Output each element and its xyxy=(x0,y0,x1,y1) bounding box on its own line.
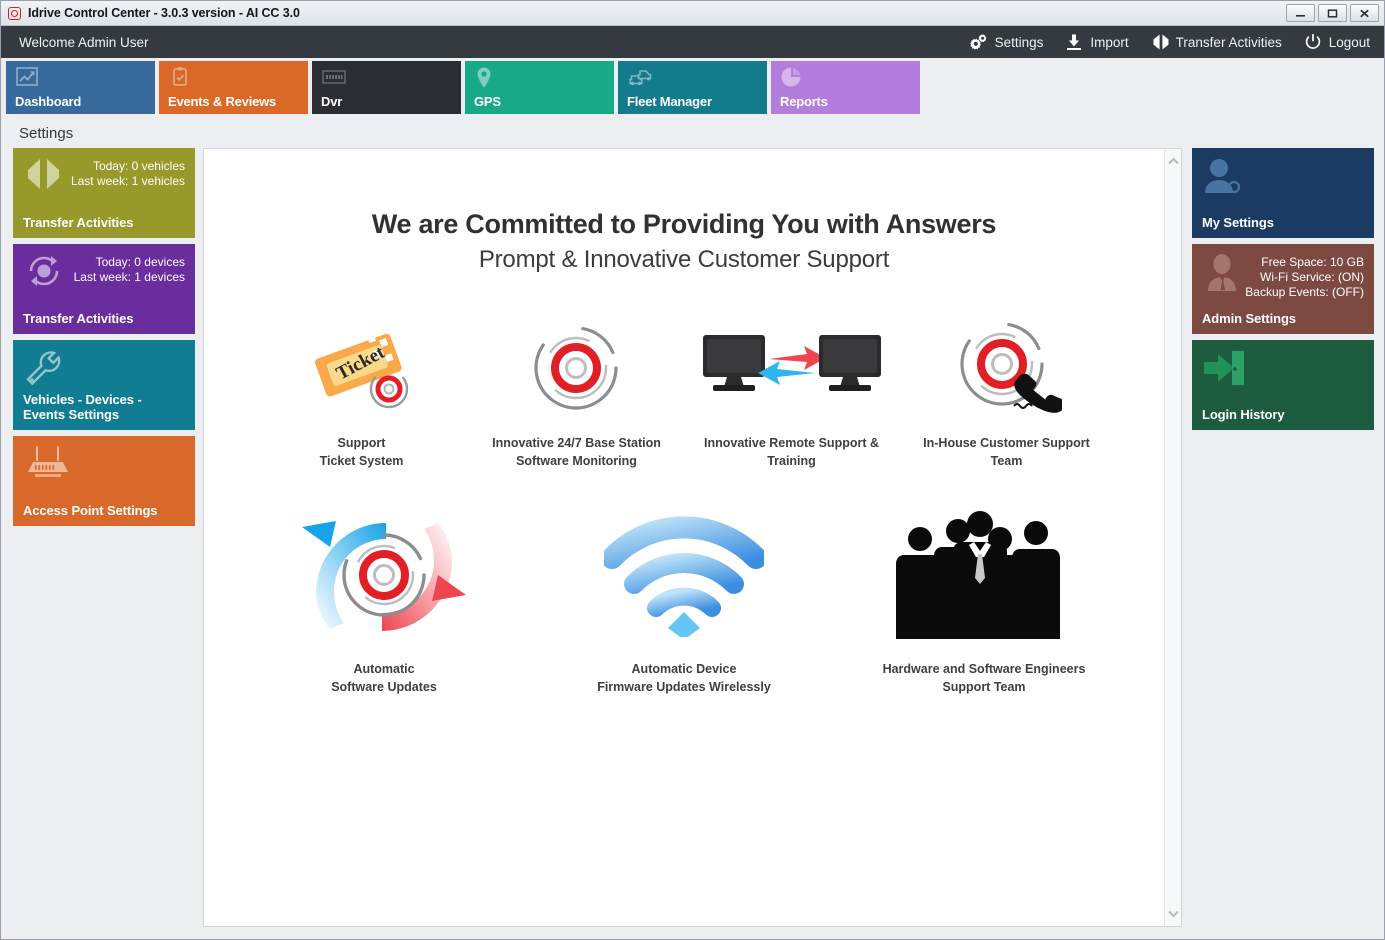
content-scroll-area: We are Committed to Providing You with A… xyxy=(204,149,1164,926)
top-toolbar: Welcome Admin User Settings xyxy=(1,26,1384,58)
application-window: Idrive Control Center - 3.0.3 version - … xyxy=(0,0,1385,940)
tab-reports[interactable]: Reports xyxy=(771,61,920,114)
tab-reports-label: Reports xyxy=(780,94,828,109)
feature-row-2: Automatic Software Updates xyxy=(204,504,1164,696)
team-silhouette-icon xyxy=(892,504,1077,644)
feature-caption: Hardware and Software Engineers Support … xyxy=(883,660,1086,696)
wrench-icon xyxy=(23,349,67,385)
target-rings-icon xyxy=(529,318,624,418)
close-button[interactable] xyxy=(1350,4,1379,22)
vehicles-icon xyxy=(627,66,767,88)
feature-in-house-support-team: In-House Customer Support Team xyxy=(899,318,1114,470)
device-sync-icon xyxy=(23,253,65,289)
page-title: We are Committed to Providing You with A… xyxy=(204,209,1164,240)
tile-label: My Settings xyxy=(1202,215,1364,230)
tile-header: Today: 0 vehicles Last week: 1 vehicles xyxy=(23,157,185,191)
feature-caption: Support Ticket System xyxy=(320,434,404,470)
ring-logo-icon xyxy=(8,7,21,20)
tab-fleet-manager-label: Fleet Manager xyxy=(627,94,712,109)
maximize-button[interactable] xyxy=(1318,4,1347,22)
tile-stat-line: Free Space: 10 GB xyxy=(1245,255,1364,270)
main-navigation: Dashboard Events & Reviews xyxy=(1,58,1384,118)
window-controls xyxy=(1286,4,1382,22)
tile-vehicles-devices-events-settings[interactable]: Vehicles - Devices - Events Settings xyxy=(13,340,195,430)
refresh-target-icon xyxy=(294,504,474,644)
pie-chart-icon xyxy=(780,66,920,88)
transfer-arrows-icon xyxy=(1151,33,1169,51)
chevron-down-icon[interactable] xyxy=(1167,907,1180,920)
tile-label: Vehicles - Devices - Events Settings xyxy=(23,392,185,422)
toolbar-import-button[interactable]: Import xyxy=(1065,33,1128,51)
dvr-box-icon xyxy=(321,66,461,88)
tile-stat-line: Last week: 1 vehicles xyxy=(71,174,185,189)
feature-base-station-monitoring: Innovative 24/7 Base Station Software Mo… xyxy=(469,318,684,470)
tab-dvr-label: Dvr xyxy=(321,94,342,109)
tab-events-and-reviews-label: Events & Reviews xyxy=(168,94,276,109)
tab-events-and-reviews[interactable]: Events & Reviews xyxy=(159,61,308,114)
toolbar-logout-label: Logout xyxy=(1329,35,1370,50)
toolbar-transfer-label: Transfer Activities xyxy=(1176,35,1282,50)
map-pin-icon xyxy=(474,66,614,90)
feature-row-1: Ticket Support Ticket System xyxy=(204,318,1164,470)
tile-device-transfer-activities[interactable]: Today: 0 devices Last week: 1 devices Tr… xyxy=(13,244,195,334)
tile-label: Transfer Activities xyxy=(23,215,185,230)
tile-stat-line: Today: 0 devices xyxy=(74,255,185,270)
admin-user-icon xyxy=(1202,253,1242,293)
window-title: Idrive Control Center - 3.0.3 version - … xyxy=(28,6,300,20)
tile-header: Today: 0 devices Last week: 1 devices xyxy=(23,253,185,289)
tile-login-history[interactable]: Login History xyxy=(1192,340,1374,430)
clipboard-check-icon xyxy=(168,66,308,88)
title-bar: Idrive Control Center - 3.0.3 version - … xyxy=(1,1,1384,26)
tab-fleet-manager[interactable]: Fleet Manager xyxy=(618,61,767,114)
tile-label: Access Point Settings xyxy=(23,503,185,518)
transfer-arrows-icon xyxy=(23,157,65,191)
page-subtitle: Prompt & Innovative Customer Support xyxy=(204,246,1164,274)
gears-icon xyxy=(970,33,988,51)
tab-dashboard[interactable]: Dashboard xyxy=(6,61,155,114)
body-row: Today: 0 vehicles Last week: 1 vehicles … xyxy=(1,148,1384,939)
chart-line-icon xyxy=(15,66,155,88)
power-icon xyxy=(1304,33,1322,51)
chevron-up-icon[interactable] xyxy=(1167,155,1180,168)
tile-stat-line: Today: 0 vehicles xyxy=(71,159,185,174)
feature-automatic-firmware-updates: Automatic Device Firmware Updates Wirele… xyxy=(534,504,834,696)
tile-admin-settings[interactable]: Free Space: 10 GB Wi-Fi Service: (ON) Ba… xyxy=(1192,244,1374,334)
breadcrumb-label: Settings xyxy=(19,125,73,142)
toolbar-logout-button[interactable]: Logout xyxy=(1304,33,1370,51)
tile-stat-line: Wi-Fi Service: (ON) xyxy=(1245,270,1364,285)
tile-access-point-settings[interactable]: Access Point Settings xyxy=(13,436,195,526)
right-sidebar: My Settings Free Space: 1 xyxy=(1192,148,1374,927)
left-sidebar: Today: 0 vehicles Last week: 1 vehicles … xyxy=(13,148,195,927)
tile-vehicle-transfer-activities[interactable]: Today: 0 vehicles Last week: 1 vehicles … xyxy=(13,148,195,238)
download-icon xyxy=(1065,33,1083,51)
tile-stats: Today: 0 devices Last week: 1 devices xyxy=(74,253,185,285)
breadcrumb: Settings xyxy=(1,118,1384,148)
tile-stat-line: Last week: 1 devices xyxy=(74,270,185,285)
tile-stat-line: Backup Events: (OFF) xyxy=(1245,285,1364,300)
tile-header xyxy=(23,349,185,385)
feature-caption: Innovative 24/7 Base Station Software Mo… xyxy=(492,434,661,470)
tile-header: Free Space: 10 GB Wi-Fi Service: (ON) Ba… xyxy=(1202,253,1364,300)
feature-remote-support-training: Innovative Remote Support & Training xyxy=(684,318,899,470)
router-icon xyxy=(23,445,73,483)
feature-caption: Automatic Device Firmware Updates Wirele… xyxy=(597,660,771,696)
content-panel: We are Committed to Providing You with A… xyxy=(203,148,1182,927)
ticket-target-icon: Ticket xyxy=(307,318,417,418)
tab-dvr[interactable]: Dvr xyxy=(312,61,461,114)
login-door-icon xyxy=(1202,349,1246,387)
toolbar-settings-button[interactable]: Settings xyxy=(970,33,1044,51)
tile-label: Transfer Activities xyxy=(23,311,185,326)
toolbar-transfer-activities-button[interactable]: Transfer Activities xyxy=(1151,33,1282,51)
tile-label: Admin Settings xyxy=(1202,311,1364,326)
toolbar-import-label: Import xyxy=(1090,35,1128,50)
user-gear-icon xyxy=(1202,157,1244,195)
feature-caption: Innovative Remote Support & Training xyxy=(704,434,879,470)
scrollbar-track[interactable] xyxy=(1165,168,1181,907)
tab-gps[interactable]: GPS xyxy=(465,61,614,114)
tab-dashboard-label: Dashboard xyxy=(15,94,81,109)
feature-caption: In-House Customer Support Team xyxy=(923,434,1090,470)
toolbar-actions: Settings Import xyxy=(970,33,1370,51)
vertical-scrollbar[interactable] xyxy=(1164,149,1181,926)
tile-header xyxy=(1202,157,1364,195)
tile-header xyxy=(1202,349,1364,387)
feature-automatic-software-updates: Automatic Software Updates xyxy=(234,504,534,696)
wifi-signal-icon xyxy=(604,504,764,644)
feature-caption: Automatic Software Updates xyxy=(331,660,437,696)
tile-label: Login History xyxy=(1202,407,1364,422)
feature-support-ticket-system: Ticket Support Ticket System xyxy=(254,318,469,470)
tile-stats: Today: 0 vehicles Last week: 1 vehicles xyxy=(71,157,185,189)
target-phone-icon xyxy=(952,318,1062,418)
minimize-button[interactable] xyxy=(1286,4,1315,22)
dual-monitors-arrows-icon xyxy=(697,318,887,418)
tile-header xyxy=(23,445,185,483)
tab-gps-label: GPS xyxy=(474,94,501,109)
feature-hardware-software-engineers: Hardware and Software Engineers Support … xyxy=(834,504,1134,696)
toolbar-settings-label: Settings xyxy=(995,35,1044,50)
welcome-label: Welcome Admin User xyxy=(19,35,149,50)
tile-my-settings[interactable]: My Settings xyxy=(1192,148,1374,238)
tile-stats: Free Space: 10 GB Wi-Fi Service: (ON) Ba… xyxy=(1245,253,1364,300)
